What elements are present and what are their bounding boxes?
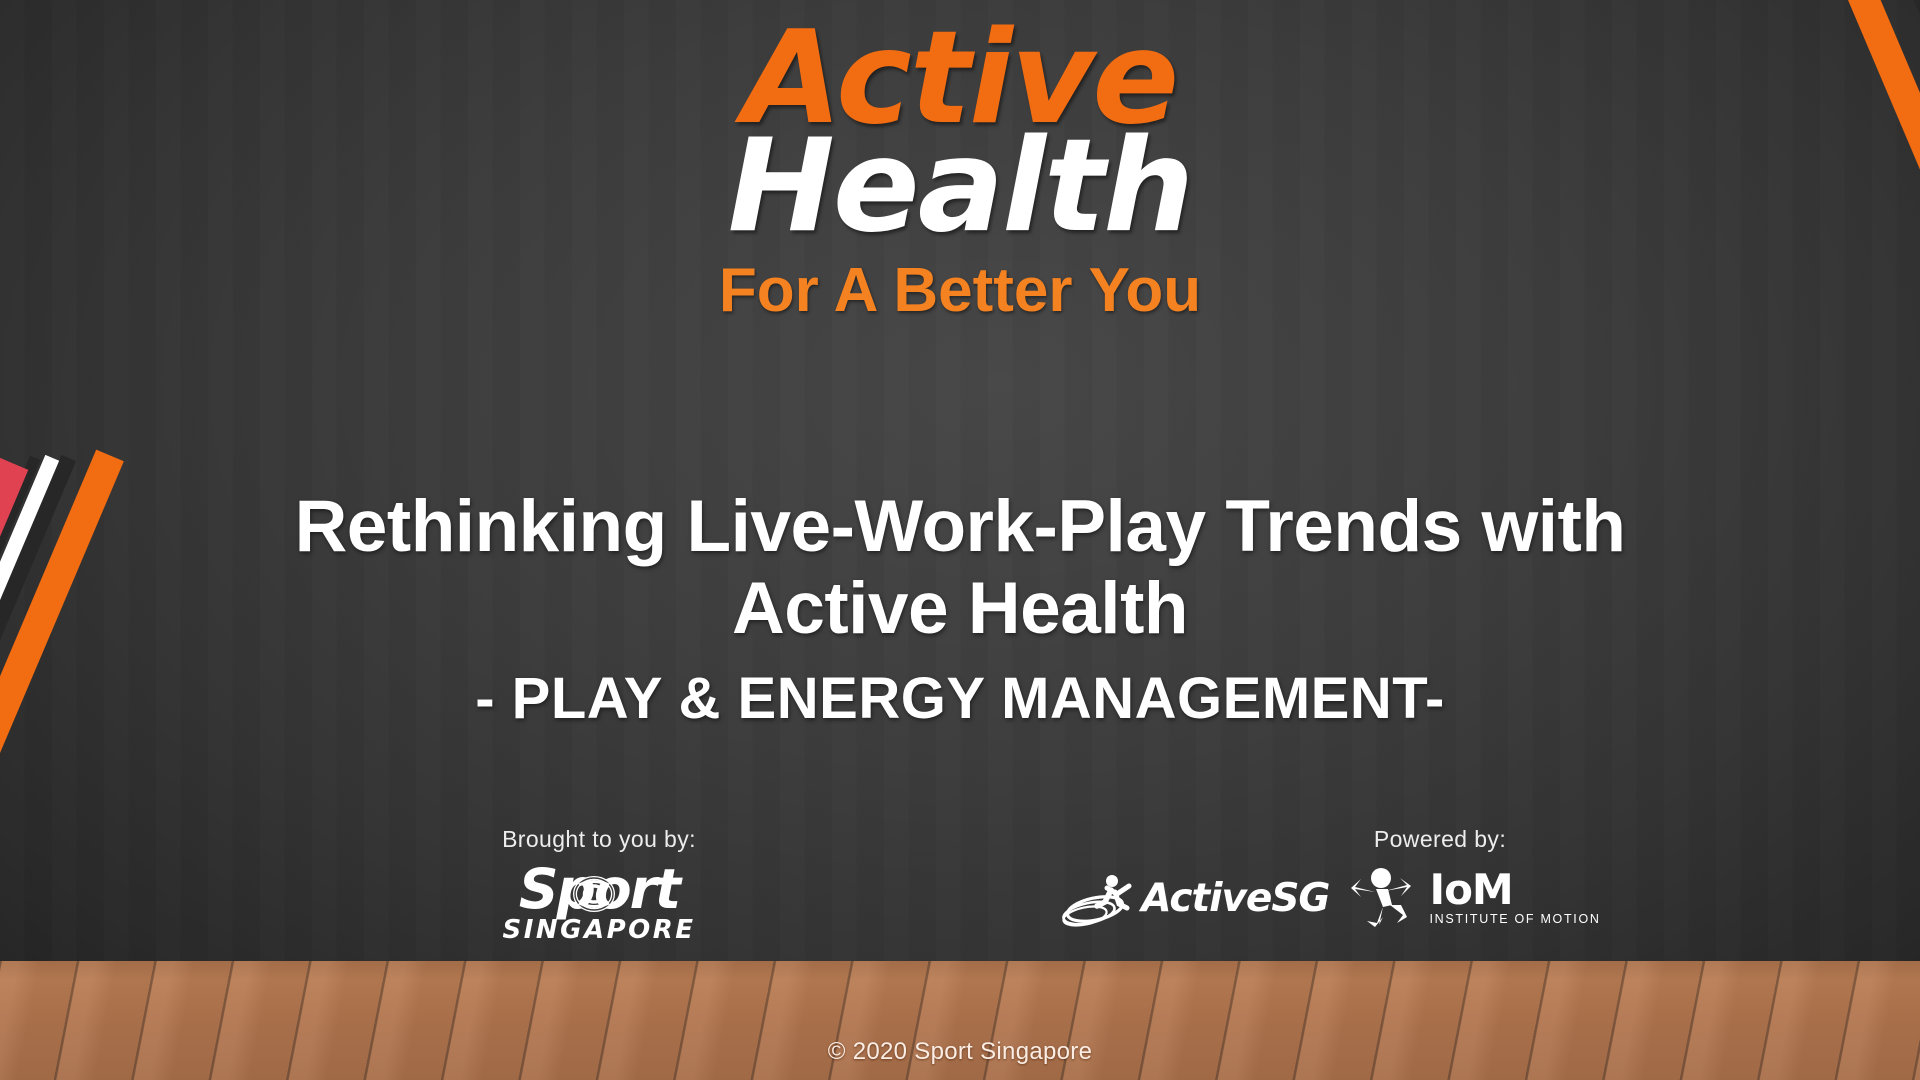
sport-singapore-logo: Sport SINGAPORE bbox=[474, 862, 724, 928]
activesg-runner-icon bbox=[1059, 868, 1147, 928]
activesg-logo: ActiveSG bbox=[1059, 868, 1329, 928]
iom-runner-icon bbox=[1345, 865, 1419, 931]
slide-title-group: Rethinking Live-Work-Play Trends with Ac… bbox=[180, 486, 1740, 732]
powered-by-label: Powered by: bbox=[1290, 826, 1590, 853]
iom-wordmark: IoM bbox=[1429, 870, 1600, 910]
copyright-notice: © 2020 Sport Singapore bbox=[0, 1038, 1920, 1066]
credits-row: Brought to you by: Sport SINGAPORE Power… bbox=[0, 826, 1920, 946]
sport-ball-icon bbox=[573, 876, 615, 912]
iom-text-block: IoM INSTITUTE OF MOTION bbox=[1429, 870, 1600, 926]
presentation-slide: Active Health For A Better You Rethinkin… bbox=[0, 0, 1920, 1080]
slide-title: Rethinking Live-Work-Play Trends with Ac… bbox=[180, 486, 1740, 651]
active-health-logo: Active Health For A Better You bbox=[0, 18, 1920, 326]
slide-subtitle: - PLAY & ENERGY MANAGEMENT- bbox=[180, 665, 1740, 732]
activesg-wordmark: ActiveSG bbox=[1141, 876, 1329, 921]
powered-by-logos: ActiveSG IoM INSTITUTE O bbox=[1180, 865, 1480, 931]
powered-by-block: Powered by: ActiveSG bbox=[1290, 826, 1590, 931]
sport-singapore-subword: SINGAPORE bbox=[474, 915, 724, 945]
iom-subword: INSTITUTE OF MOTION bbox=[1429, 912, 1600, 926]
iom-logo: IoM INSTITUTE OF MOTION bbox=[1345, 865, 1600, 931]
brought-to-you-by-block: Brought to you by: Sport SINGAPORE bbox=[474, 826, 724, 928]
logo-word-health: Health bbox=[0, 126, 1920, 248]
brought-to-you-by-label: Brought to you by: bbox=[474, 826, 724, 853]
logo-tagline: For A Better You bbox=[0, 255, 1920, 326]
